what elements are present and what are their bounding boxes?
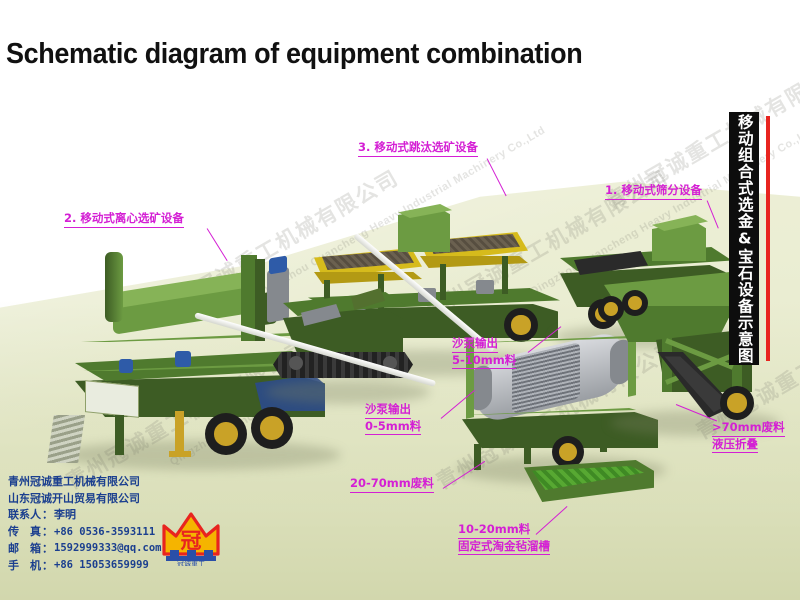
label-waste-over-70mm: >70mm废料 液压折叠 bbox=[712, 420, 785, 453]
contact-email-value[interactable]: 1592999333@qq.com bbox=[54, 541, 161, 557]
crown-foot-right bbox=[204, 550, 213, 557]
contact-mobile-colon: ： bbox=[42, 558, 53, 575]
contact-email-key: 邮 箱 bbox=[8, 541, 41, 558]
equipment-tracked-crusher bbox=[255, 270, 445, 420]
crown-glyph: 冠 bbox=[181, 529, 202, 553]
contact-fax-value: +86 0536-3593111 bbox=[54, 525, 155, 541]
contact-company-1: 青州冠诚重工机械有限公司 bbox=[8, 474, 223, 491]
vertical-banner-text: 移动组合式选金&宝石设备示意图 bbox=[736, 114, 752, 364]
leader-line-3 bbox=[486, 158, 506, 196]
label-1-mobile-screen: 1. 移动式筛分设备 bbox=[605, 183, 702, 200]
contact-mobile-key: 手 机 bbox=[8, 558, 41, 575]
slurry-pipe-c bbox=[105, 252, 123, 322]
contact-email-colon: ： bbox=[42, 541, 53, 558]
contact-mobile-value: +86 15053659999 bbox=[54, 558, 149, 574]
crown-foot-left bbox=[170, 550, 179, 557]
label-waste-20-70mm: 20-70mm废料 bbox=[350, 476, 434, 493]
contact-person-value: 李明 bbox=[54, 507, 76, 524]
contact-fax-colon: ： bbox=[42, 524, 53, 541]
vertical-banner: 移动组合式选金&宝石设备示意图 bbox=[729, 112, 759, 365]
label-sluice-10-20mm: 10-20mm料 固定式淘金毡溜槽 bbox=[458, 522, 550, 555]
banner-accent-bar bbox=[766, 116, 770, 361]
label-pump-output-5-10mm: 沙泵输出 5-10mm料 bbox=[452, 336, 516, 369]
label-2-mobile-centrifugal: 2. 移动式离心选矿设备 bbox=[64, 211, 184, 228]
contact-fax-key: 传 真 bbox=[8, 524, 41, 541]
contact-company-2: 山东冠诚开山贸易有限公司 bbox=[8, 491, 223, 508]
label-pump-output-0-5mm: 沙泵输出 0-5mm料 bbox=[365, 402, 421, 435]
crown-caption: 冠诚重工 bbox=[177, 559, 205, 566]
company-crown-logo: 冠 冠诚重工 bbox=[160, 506, 222, 566]
contact-person-colon: ： bbox=[42, 507, 53, 524]
diagram-canvas: Schematic diagram of equipment combinati… bbox=[0, 0, 800, 600]
contact-person-key: 联系人 bbox=[8, 507, 41, 524]
label-3-mobile-jig: 3. 移动式跳汰选矿设备 bbox=[358, 140, 478, 157]
page-title: Schematic diagram of equipment combinati… bbox=[6, 38, 582, 71]
